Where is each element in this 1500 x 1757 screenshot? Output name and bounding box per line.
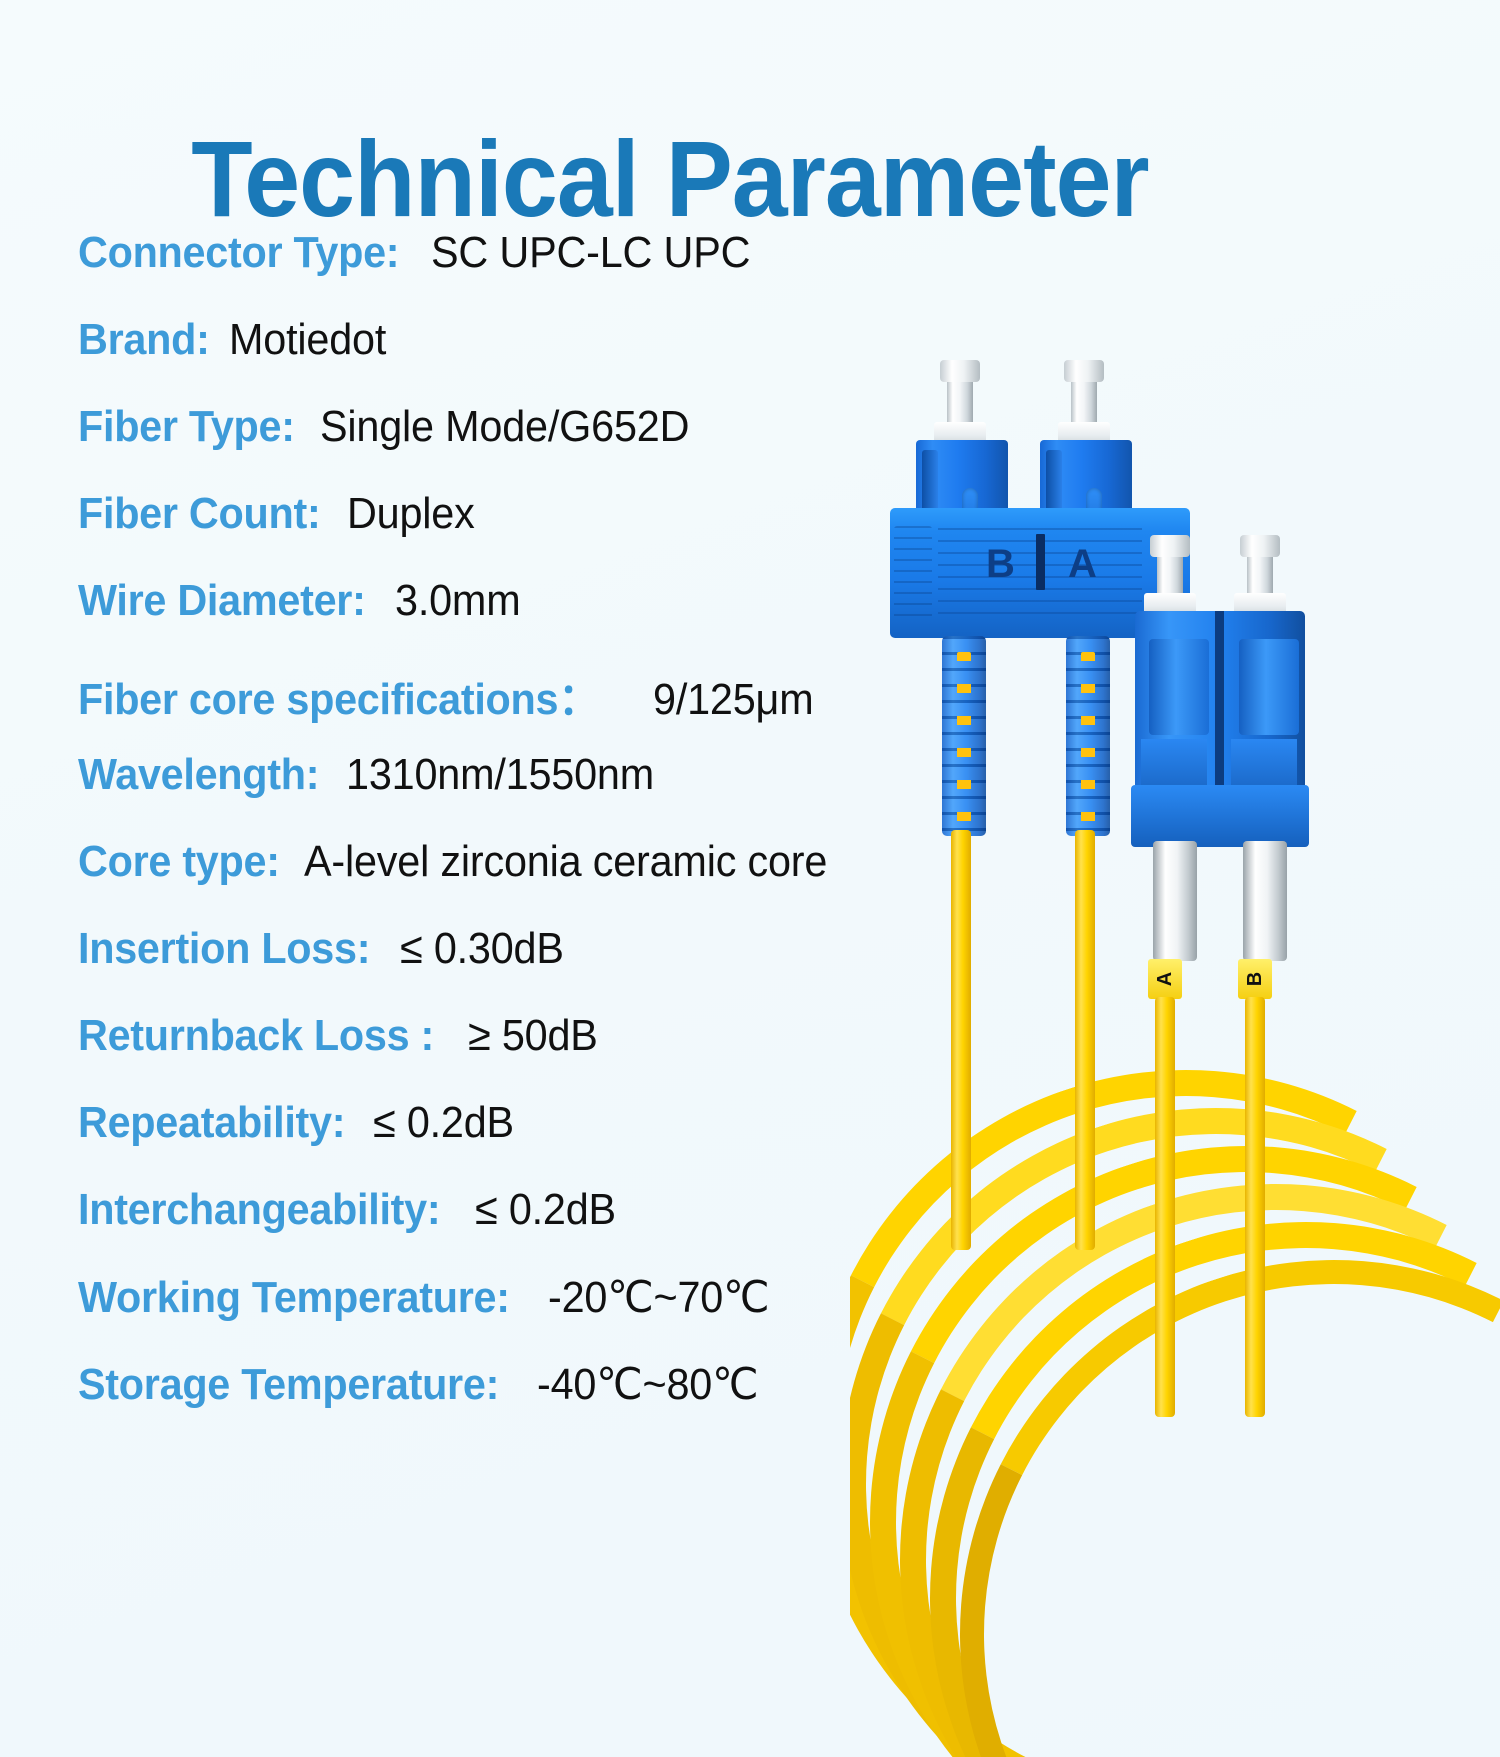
spec-label: Wire Diameter:	[78, 576, 366, 626]
spec-label: Fiber Type:	[78, 402, 295, 452]
spec-label: Working Temperature:	[78, 1273, 510, 1323]
spec-value: Duplex	[347, 489, 475, 539]
spec-value: -40℃~80℃	[537, 1359, 758, 1410]
spec-value: ≤ 0.30dB	[400, 924, 564, 974]
spec-list: Connector Type: SC UPC-LC UPC Brand: Mot…	[78, 228, 1458, 1446]
spec-value: Motiedot	[229, 315, 386, 365]
spec-value: Single Mode/G652D	[320, 402, 689, 452]
spec-row-fiber-count: Fiber Count: Duplex	[78, 489, 1458, 576]
spec-row-returnback-loss: Returnback Loss : ≥ 50dB	[78, 1011, 1458, 1098]
spec-row-interchangeability: Interchangeability: ≤ 0.2dB	[78, 1185, 1458, 1272]
spec-value: 1310nm/1550nm	[346, 750, 654, 800]
spec-label: Fiber core specifications：	[78, 663, 599, 727]
spec-row-working-temperature: Working Temperature: -20℃~70℃	[78, 1272, 1458, 1359]
spec-label: Wavelength:	[78, 750, 319, 800]
spec-label: Storage Temperature:	[78, 1360, 499, 1410]
spec-value: ≤ 0.2dB	[475, 1185, 616, 1235]
spec-value: ≤ 0.2dB	[373, 1098, 514, 1148]
spec-row-repeatability: Repeatability: ≤ 0.2dB	[78, 1098, 1458, 1185]
spec-value: ≥ 50dB	[468, 1011, 598, 1061]
spec-value: SC UPC-LC UPC	[431, 228, 750, 278]
spec-label: Insertion Loss:	[78, 924, 370, 974]
spec-value: -20℃~70℃	[548, 1272, 769, 1323]
spec-label: Core type:	[78, 837, 280, 887]
spec-value: 3.0mm	[395, 576, 520, 626]
spec-value: 9/125μm	[653, 675, 813, 725]
spec-value: A-level zirconia ceramic core	[304, 837, 827, 887]
spec-row-fiber-core-specifications: Fiber core specifications： 9/125μm	[78, 663, 1458, 750]
spec-label: Repeatability:	[78, 1098, 345, 1148]
spec-row-core-type: Core type: A-level zirconia ceramic core	[78, 837, 1458, 924]
spec-label: Brand:	[78, 315, 210, 365]
product-spec-page: B A	[0, 0, 1500, 1757]
page-title: Technical Parameter	[47, 120, 1293, 239]
spec-label: Fiber Count:	[78, 489, 320, 539]
spec-row-brand: Brand: Motiedot	[78, 315, 1458, 402]
spec-row-insertion-loss: Insertion Loss: ≤ 0.30dB	[78, 924, 1458, 1011]
spec-label: Interchangeability:	[78, 1185, 440, 1235]
spec-label: Returnback Loss :	[78, 1011, 434, 1061]
spec-row-wavelength: Wavelength: 1310nm/1550nm	[78, 750, 1458, 837]
spec-label: Connector Type:	[78, 228, 399, 278]
spec-row-fiber-type: Fiber Type: Single Mode/G652D	[78, 402, 1458, 489]
spec-row-connector-type: Connector Type: SC UPC-LC UPC	[78, 228, 1458, 315]
spec-row-wire-diameter: Wire Diameter: 3.0mm	[78, 576, 1458, 663]
spec-row-storage-temperature: Storage Temperature: -40℃~80℃	[78, 1359, 1458, 1446]
